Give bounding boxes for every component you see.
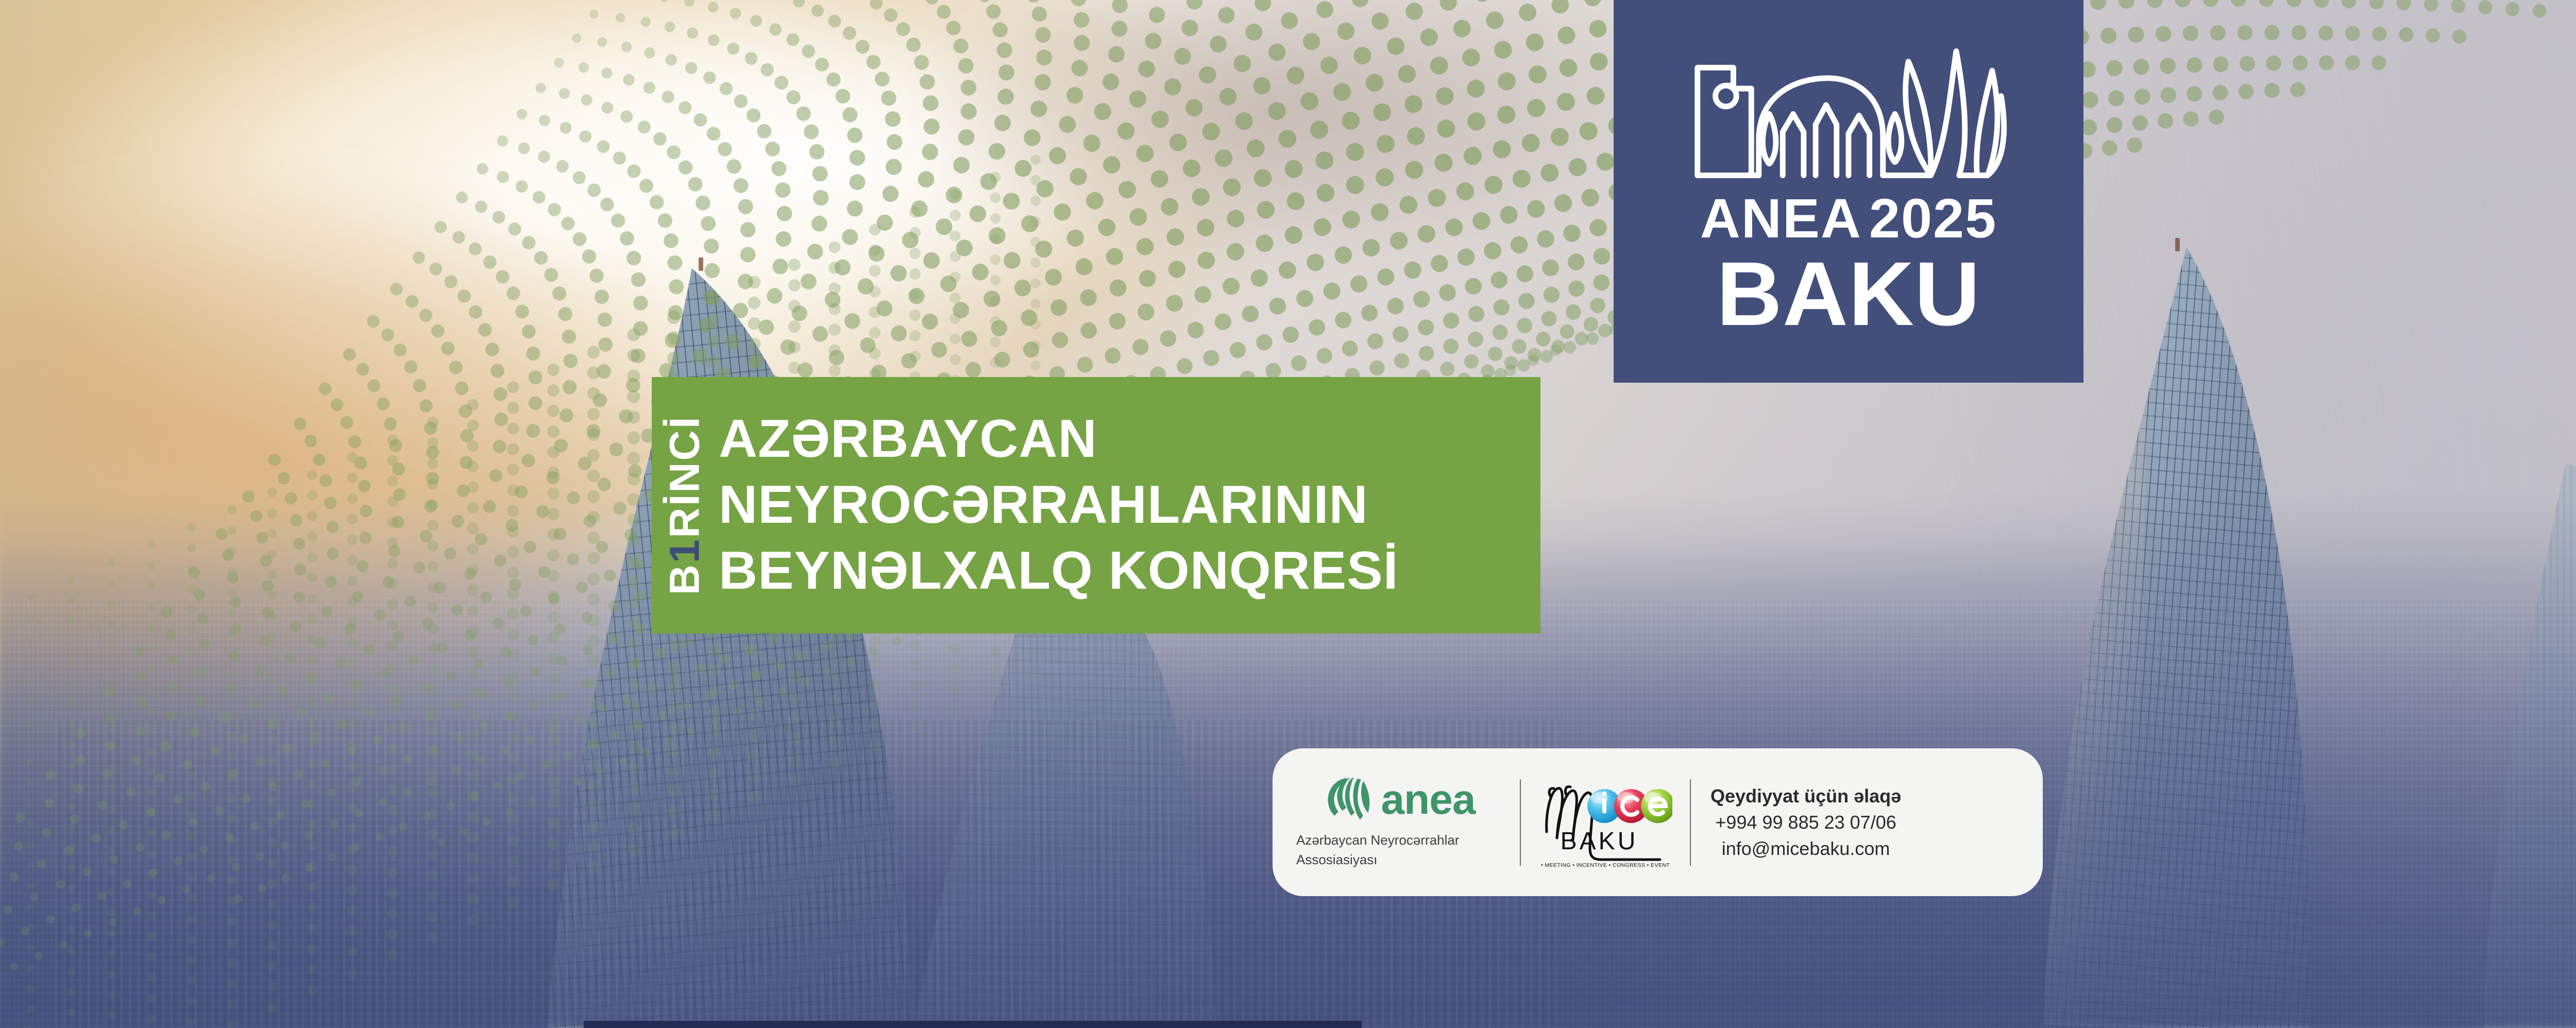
ordinal-prefix: B: [662, 563, 708, 595]
contact-pill: anea Azərbaycan Neyrocərrahlar Assosiasi…: [1273, 748, 2043, 896]
svg-text:BAKU: BAKU: [1561, 828, 1638, 855]
contact-heading: Qeydiyyat üçün əlaqə: [1710, 785, 1901, 807]
badge-acronym-year: ANEA2025: [1700, 191, 1997, 246]
mice-baku-logo: BAKU • MEETING • INCENTIVE • CONGRESS • …: [1538, 776, 1672, 869]
title-line-3: BEYNƏLXALQ KONQRESİ: [719, 540, 1526, 603]
congress-banner: ANEA2025 BAKU B1RİNCİ AZƏRBAYCAN NEYROCƏ…: [0, 0, 2576, 1028]
ordinal-one: 1: [662, 538, 708, 563]
bottom-accent-strip: [584, 1021, 1362, 1028]
ordinal-text: B1RİNCİ: [661, 415, 709, 595]
ordinal-suffix: RİNCİ: [662, 415, 708, 538]
cloud-grey-top: [820, 0, 1750, 267]
baku-skyline-flame-towers-icon: [1679, 42, 2019, 181]
anea-logo-row: anea: [1324, 775, 1476, 825]
divider: [1690, 779, 1691, 866]
badge-year: 2025: [1869, 187, 1997, 249]
contact-phone[interactable]: +994 99 885 23 07/06: [1715, 811, 1896, 833]
title-line-2: NEYROCƏRRAHLARININ: [719, 474, 1526, 537]
anea-brain-leaf-icon: [1324, 775, 1373, 825]
divider: [1520, 779, 1521, 866]
congress-title-banner: B1RİNCİ AZƏRBAYCAN NEYROCƏRRAHLARININ BE…: [652, 377, 1540, 633]
anea-wordmark: anea: [1381, 779, 1476, 821]
badge-city: BAKU: [1717, 248, 1980, 341]
ordinal-birinci: B1RİNCİ: [652, 377, 719, 633]
svg-text:• MEETING • INCENTIVE • CONG: • MEETING • INCENTIVE • CONGRESS • EVENT: [1541, 862, 1670, 868]
contact-email[interactable]: info@micebaku.com: [1722, 837, 1890, 860]
badge-acronym: ANEA: [1700, 187, 1862, 249]
anea-2025-baku-badge: ANEA2025 BAKU: [1614, 0, 2083, 383]
tower-antenna-icon: [2175, 238, 2180, 251]
tower-antenna-icon: [699, 258, 703, 271]
anea-logo-block: anea Azərbaycan Neyrocərrahlar Assosiasi…: [1296, 775, 1502, 869]
contact-details: Qeydiyyat üçün əlaqə +994 99 885 23 07/0…: [1708, 785, 1901, 860]
title-line-1: AZƏRBAYCAN: [719, 408, 1526, 471]
congress-title-lines: AZƏRBAYCAN NEYROCƏRRAHLARININ BEYNƏLXALQ…: [719, 408, 1540, 602]
anea-subtitle: Azərbaycan Neyrocərrahlar Assosiasiyası: [1296, 831, 1502, 869]
